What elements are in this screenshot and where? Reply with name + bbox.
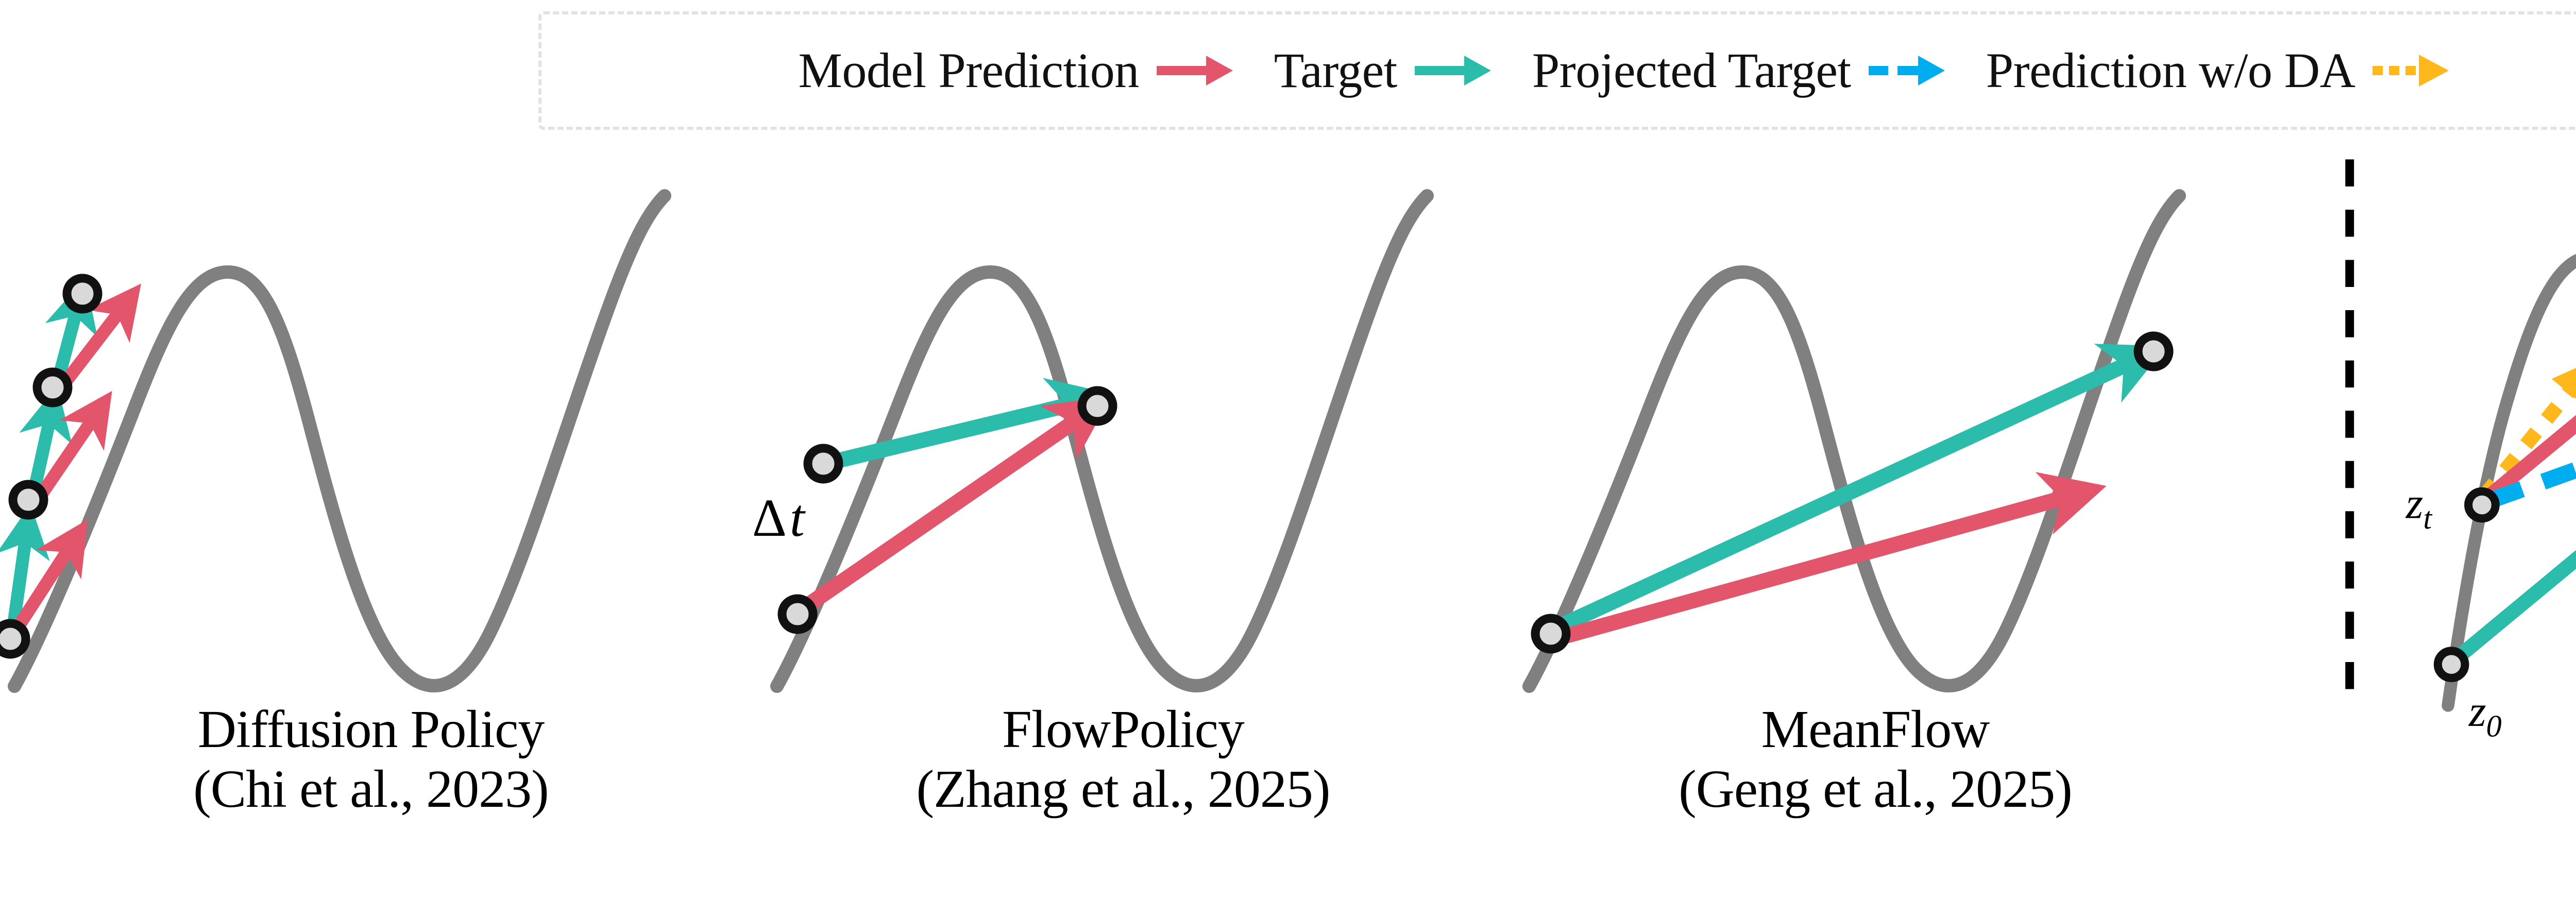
trajectory-node bbox=[0, 623, 26, 654]
model-prediction-arrow bbox=[1559, 495, 2075, 638]
model-prediction-arrow bbox=[804, 414, 1085, 608]
trajectory-node bbox=[67, 278, 98, 309]
caption-mean-flow: MeanFlow (Geng et al., 2025) bbox=[1494, 700, 2257, 820]
trajectory-node bbox=[37, 372, 68, 403]
caption-omp-ours: OMP (Ours) bbox=[2334, 737, 2576, 797]
legend-label-target: Target bbox=[1274, 46, 1397, 95]
caption-diffusion-policy: Diffusion Policy (Chi et al., 2023) bbox=[0, 700, 752, 820]
legend-label-prediction-wo-da: Prediction w/o DA bbox=[1986, 46, 2355, 95]
caption-citation: (Geng et al., 2025) bbox=[1494, 759, 2257, 819]
label-zt: zt bbox=[2405, 479, 2433, 536]
trajectory-node bbox=[782, 599, 813, 630]
caption-citation: (Zhang et al., 2025) bbox=[742, 759, 1504, 819]
trajectory-node-z0 bbox=[2438, 651, 2465, 678]
caption-title: Diffusion Policy bbox=[198, 700, 545, 759]
delta-t-label: Δt bbox=[752, 488, 806, 548]
trajectory-node bbox=[1535, 618, 1566, 649]
legend: Model Prediction Target Projected Target… bbox=[538, 11, 2576, 130]
dashed-arrow-icon-blue bbox=[1869, 53, 1946, 89]
label-z0: z0 bbox=[2468, 686, 2502, 744]
trajectory-node bbox=[13, 484, 44, 515]
trajectory-node-zt bbox=[2468, 492, 2496, 519]
delta-symbol: Δ bbox=[752, 488, 787, 548]
legend-label-model-prediction: Model Prediction bbox=[799, 46, 1139, 95]
panel-flow-policy: Δt bbox=[757, 155, 1489, 701]
trajectory-node bbox=[808, 448, 839, 479]
target-arrow bbox=[1557, 360, 2137, 628]
caption-title: FlowPolicy bbox=[1002, 700, 1244, 759]
panel-mean-flow bbox=[1510, 155, 2241, 701]
caption-flow-policy: FlowPolicy (Zhang et al., 2025) bbox=[742, 700, 1504, 820]
solid-arrow-icon-red bbox=[1157, 53, 1234, 89]
solid-arrow-icon-teal bbox=[1415, 53, 1492, 89]
target-arrow bbox=[834, 402, 1082, 462]
trajectory-curve bbox=[14, 196, 665, 686]
legend-label-projected-target: Projected Target bbox=[1532, 46, 1851, 95]
legend-item-model-prediction: Model Prediction bbox=[799, 46, 1234, 95]
legend-item-target: Target bbox=[1274, 46, 1492, 95]
trajectory-node bbox=[2138, 336, 2169, 367]
figure-root: Model Prediction Target Projected Target… bbox=[0, 0, 2576, 915]
t-symbol: t bbox=[790, 488, 806, 548]
caption-citation: (Chi et al., 2023) bbox=[0, 759, 752, 819]
legend-item-prediction-wo-da: Prediction w/o DA bbox=[1986, 46, 2450, 95]
legend-item-projected-target: Projected Target bbox=[1532, 46, 1946, 95]
panel-omp-ours: z0 zt zT bbox=[2339, 155, 2576, 701]
dotted-arrow-icon-yellow bbox=[2372, 53, 2450, 89]
panel-diffusion-policy bbox=[0, 155, 726, 701]
trajectory-node bbox=[1082, 391, 1113, 421]
caption-title: MeanFlow bbox=[1761, 700, 1990, 759]
trajectory-curve bbox=[777, 196, 1427, 686]
